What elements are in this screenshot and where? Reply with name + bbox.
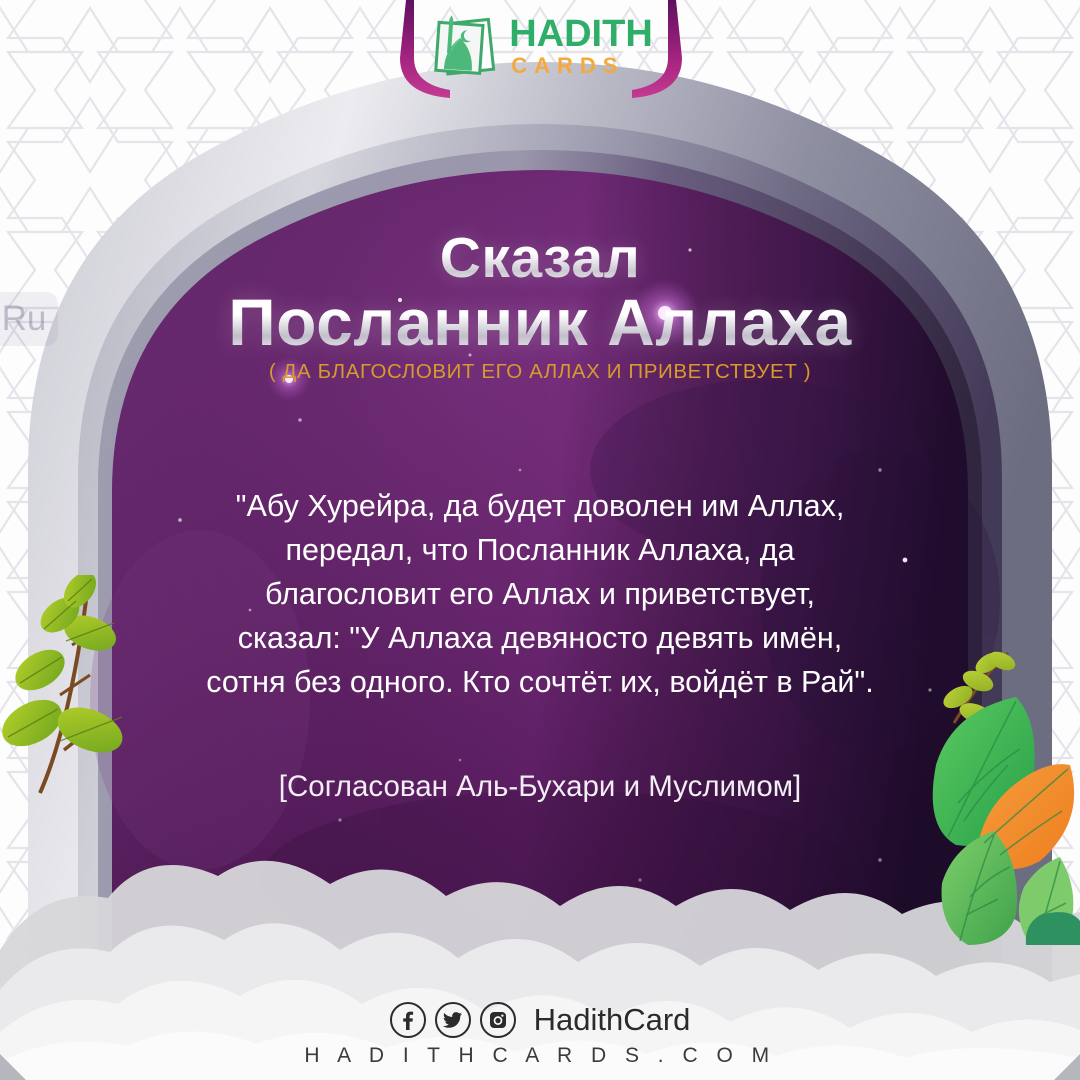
leaf-branch-left xyxy=(0,575,132,805)
website-url: H A D I T H C A R D S . C O M xyxy=(0,1044,1080,1068)
twitter-icon[interactable] xyxy=(435,1002,471,1038)
brand-logo[interactable]: HADITH CARDS xyxy=(427,8,653,84)
mosque-photo-icon xyxy=(427,8,503,84)
language-badge[interactable]: Ru xyxy=(0,292,58,346)
hadith-card: HADITH CARDS Ru Сказал Посланник Аллаха … xyxy=(0,0,1080,1080)
instagram-icon[interactable] xyxy=(480,1002,516,1038)
hadith-line: сказал: "У Аллаха девяносто девять имён, xyxy=(128,617,952,661)
hadith-line: благословит его Аллах и приветствует, xyxy=(128,573,952,617)
hadith-text: "Абу Хурейра, да будет доволен им Аллах,… xyxy=(100,485,980,705)
language-badge-label: Ru xyxy=(2,299,47,339)
hadith-line: передал, что Посланник Аллаха, да xyxy=(128,529,952,573)
leaf-cluster-right xyxy=(920,615,1080,950)
facebook-icon[interactable] xyxy=(390,1002,426,1038)
social-handle: HadithCard xyxy=(534,1002,691,1038)
corner-mark-bottom-left xyxy=(0,1054,26,1080)
social-links: HadithCard xyxy=(0,1002,1080,1038)
logo-secondary-text: CARDS xyxy=(511,55,653,77)
title-line-2: Посланник Аллаха xyxy=(100,289,980,356)
salutation-text: ( ДА БЛАГОСЛОВИТ ЕГО АЛЛАХ И ПРИВЕТСТВУЕ… xyxy=(100,360,980,384)
corner-mark-bottom-right xyxy=(1054,1054,1080,1080)
logo-primary-text: HADITH xyxy=(509,15,653,53)
title-line-1: Сказал xyxy=(100,230,980,287)
card-content: Сказал Посланник Аллаха ( ДА БЛАГОСЛОВИТ… xyxy=(100,230,980,930)
hadith-line: "Абу Хурейра, да будет доволен им Аллах, xyxy=(128,485,952,529)
hadith-line: сотня без одного. Кто сочтёт их, войдёт … xyxy=(128,661,952,705)
hadith-source: [Согласован Аль-Бухари и Муслимом] xyxy=(100,770,980,804)
footer: HadithCard H A D I T H C A R D S . C O M xyxy=(0,1002,1080,1068)
